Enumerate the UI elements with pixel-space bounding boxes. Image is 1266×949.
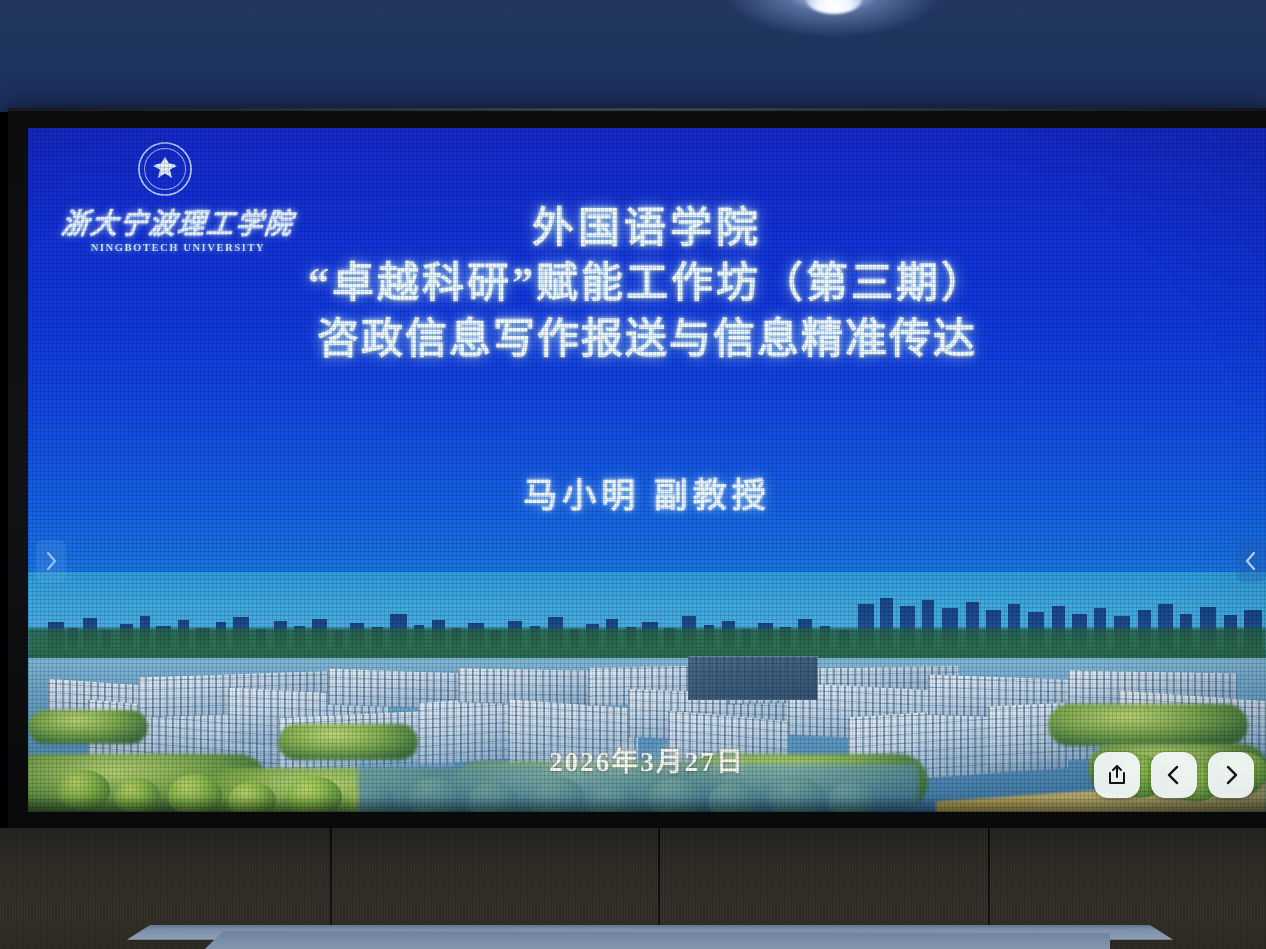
conference-table-edge (205, 931, 1110, 949)
presentation-screen[interactable]: 浙大宁波理工学院 NINGBOTECH UNIVERSITY 外国语学院 “卓越… (28, 128, 1266, 812)
chevron-right-icon[interactable] (36, 540, 66, 582)
display-bezel-highlight (8, 108, 1266, 111)
university-seal-emblem (136, 140, 194, 198)
title-line-3: 咨政信息写作报送与信息精准传达 (28, 312, 1266, 368)
previous-slide-button[interactable] (1151, 752, 1197, 798)
share-icon[interactable] (1094, 752, 1140, 798)
speaker-name: 马小明 副教授 (28, 468, 1266, 517)
title-line-2: “卓越科研”赋能工作坊（第三期） (28, 257, 1266, 312)
ceiling-light (806, 0, 862, 14)
slide-date: 2026年3月27日 (28, 740, 1266, 779)
slide-title: 外国语学院 “卓越科研”赋能工作坊（第三期） 咨政信息写作报送与信息精准传达 (28, 202, 1266, 368)
photo-ground (28, 658, 1266, 812)
photo-bottom-shadow (28, 796, 1266, 812)
title-line-1: 外国语学院 (28, 202, 1266, 257)
meeting-room-scene: 浙大宁波理工学院 NINGBOTECH UNIVERSITY 外国语学院 “卓越… (0, 0, 1266, 949)
room-wall (0, 0, 1266, 112)
chevron-left-icon[interactable] (1236, 540, 1266, 582)
slide-control-bar[interactable] (1094, 752, 1254, 798)
next-slide-button[interactable] (1208, 752, 1254, 798)
